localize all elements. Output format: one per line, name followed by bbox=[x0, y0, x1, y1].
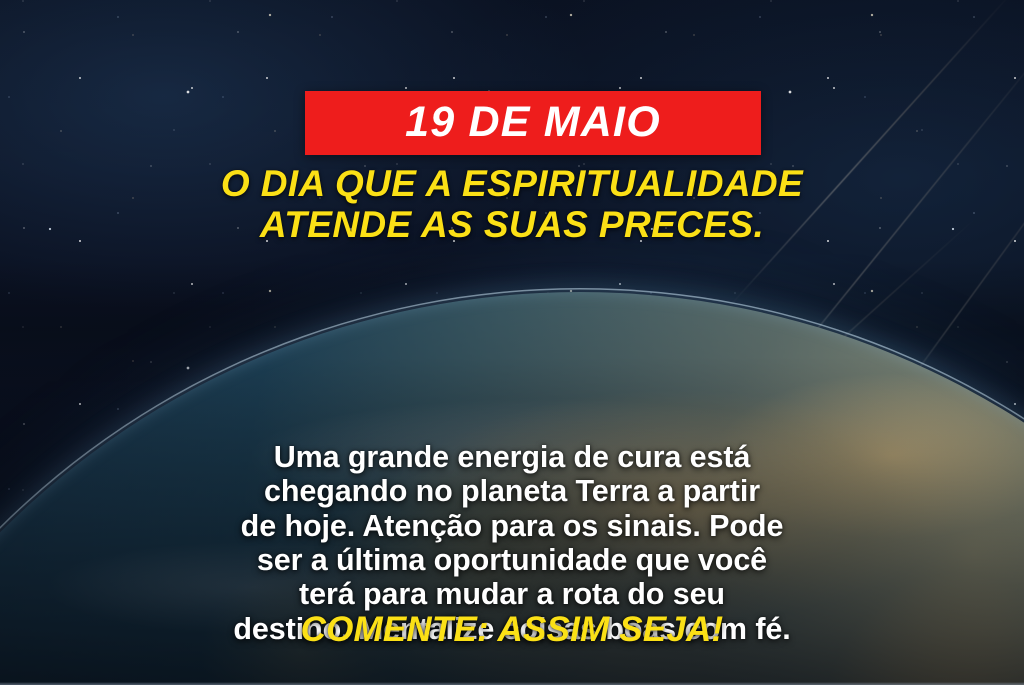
headline-line-2: ATENDE AS SUAS PRECES. bbox=[0, 205, 1024, 246]
poster-content: 19 DE MAIO O DIA QUE A ESPIRITUALIDADE A… bbox=[0, 0, 1024, 685]
body-line-3: de hoje. Atenção para os sinais. Pode bbox=[42, 509, 982, 543]
call-to-action-text: COMENTE: ASSIM SEJA! bbox=[0, 612, 1024, 647]
body-line-2: chegando no planeta Terra a partir bbox=[42, 474, 982, 508]
date-banner-label: 19 DE MAIO bbox=[405, 101, 661, 144]
date-banner: 19 DE MAIO bbox=[305, 91, 761, 155]
body-line-5: terá para mudar a rota do seu bbox=[42, 577, 982, 611]
body-line-1: Uma grande energia de cura está bbox=[42, 440, 982, 474]
body-line-4: ser a última oportunidade que você bbox=[42, 543, 982, 577]
headline-line-1: O DIA QUE A ESPIRITUALIDADE bbox=[0, 164, 1024, 205]
headline: O DIA QUE A ESPIRITUALIDADE ATENDE AS SU… bbox=[0, 164, 1024, 245]
poster-canvas: 19 DE MAIO O DIA QUE A ESPIRITUALIDADE A… bbox=[0, 0, 1024, 685]
